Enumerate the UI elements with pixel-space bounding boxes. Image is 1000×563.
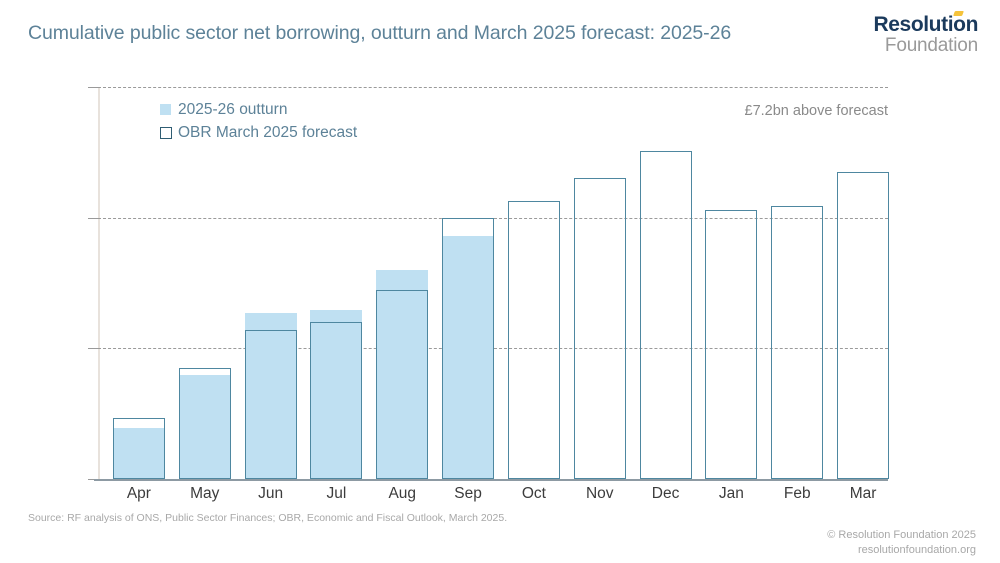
bar-forecast [310,322,362,479]
bar-group [640,87,692,479]
x-axis-line [94,479,888,481]
logo-accent-mark [953,11,964,16]
x-axis-label: Jan [705,485,757,503]
bar-group [771,87,823,479]
x-axis-label: Sep [442,485,494,503]
x-axis-label: Feb [771,485,823,503]
y-axis-tick-mark [88,218,98,219]
bar-group [837,87,889,479]
bar-group [508,87,560,479]
bar-forecast [705,210,757,479]
x-axis-label: Mar [837,485,889,503]
website-text: resolutionfoundation.org [827,543,976,558]
x-axis-label: Dec [640,485,692,503]
x-axis-label: May [179,485,231,503]
bar-forecast [508,201,560,479]
y-axis-line [98,87,100,479]
footer-credits: © Resolution Foundation 2025 resolutionf… [827,528,976,558]
y-axis-tick-mark [88,87,98,88]
bar-forecast [771,206,823,479]
x-axis-label: Apr [113,485,165,503]
bar-group [574,87,626,479]
y-axis-tick-mark [88,348,98,349]
logo-wordmark-top: Resolution [874,14,979,35]
bar-forecast [376,290,428,479]
page-title: Cumulative public sector net borrowing, … [28,22,828,45]
bar-forecast [245,330,297,479]
bar-forecast [179,368,231,479]
bar-group [179,87,231,479]
resolution-foundation-logo: Resolution Foundation [874,14,979,55]
source-note: Source: RF analysis of ONS, Public Secto… [28,512,507,524]
copyright-text: © Resolution Foundation 2025 [827,528,976,543]
bar-group [113,87,165,479]
logo-text-foundation: Foundation [874,36,979,55]
bar-forecast [113,418,165,479]
x-axis-label: Nov [574,485,626,503]
bar-group [705,87,757,479]
x-axis-label: Jul [310,485,362,503]
x-axis-label: Aug [376,485,428,503]
bar-forecast [837,172,889,479]
chart-page: Cumulative public sector net borrowing, … [0,0,1000,563]
bar-group [442,87,494,479]
bar-forecast [442,218,494,479]
logo-text-resolution: Resolution [874,13,979,36]
x-axis-label: Jun [245,485,297,503]
bar-forecast [574,178,626,479]
bar-forecast [640,151,692,479]
bar-group [310,87,362,479]
plot-area: £0£50bn£100bn£150bn AprMayJunJulAugSepOc… [98,87,888,479]
x-axis-label: Oct [508,485,560,503]
bar-group [245,87,297,479]
bar-group [376,87,428,479]
